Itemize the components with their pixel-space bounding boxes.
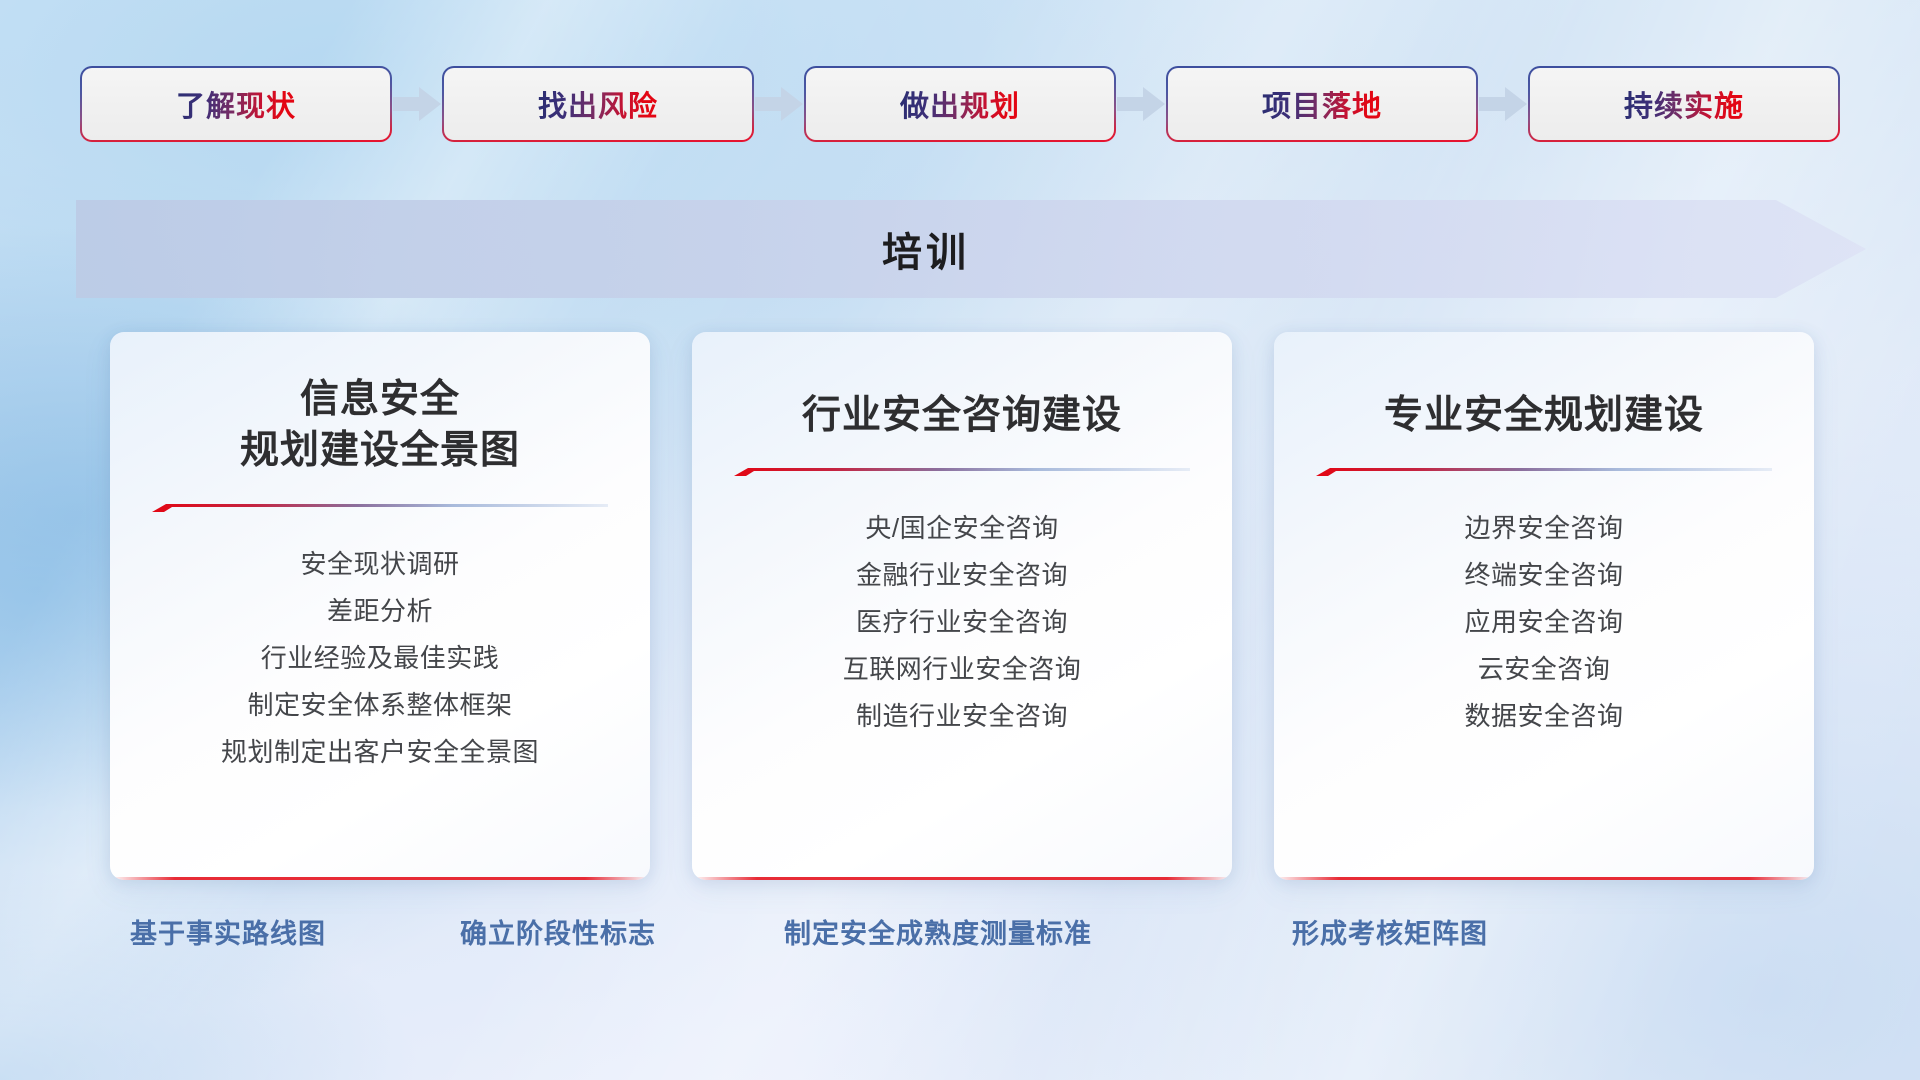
list-item: 医疗行业安全咨询 (716, 599, 1208, 646)
list-item: 行业经验及最佳实践 (134, 635, 626, 682)
bottom-label-roadmap: 基于事实路线图 (130, 912, 326, 951)
step-box-3[interactable]: 做出规划 (806, 68, 1114, 140)
card-divider (1316, 467, 1772, 477)
step-label: 了解现状 (176, 83, 296, 125)
step-box-1[interactable]: 了解现状 (82, 68, 390, 140)
list-item: 终端安全咨询 (1298, 552, 1790, 599)
list-item: 云安全咨询 (1298, 646, 1790, 693)
card-industry-security-consulting[interactable]: 行业安全咨询建设 央/国企安全咨询 金融行业安全咨询 医疗行业安全咨询 (692, 332, 1232, 880)
process-step-row: 了解现状 找出风险 做出规划 项目落地 持续实施 (0, 68, 1920, 140)
step-label: 找出风险 (538, 83, 658, 125)
card-info-security-blueprint[interactable]: 信息安全 规划建设全景图 安全现状调研 差距分析 行业经验及最佳实践 (110, 332, 650, 880)
card-title: 行业安全咨询建设 (802, 374, 1122, 441)
step-label: 项目落地 (1262, 83, 1382, 125)
bottom-label-milestone: 确立阶段性标志 (460, 912, 656, 951)
step-label: 做出规划 (900, 83, 1020, 125)
list-item: 应用安全咨询 (1298, 599, 1790, 646)
bottom-label-maturity: 制定安全成熟度测量标准 (784, 912, 1092, 951)
list-item: 数据安全咨询 (1298, 693, 1790, 740)
right-arrow-icon (390, 82, 444, 126)
step-box-2[interactable]: 找出风险 (444, 68, 752, 140)
step-label: 持续实施 (1624, 83, 1744, 125)
list-item: 互联网行业安全咨询 (716, 646, 1208, 693)
list-item: 边界安全咨询 (1298, 505, 1790, 552)
training-banner: 培训 (76, 200, 1866, 298)
bottom-label-row: 基于事实路线图 确立阶段性标志 制定安全成熟度测量标准 形成考核矩阵图 (0, 912, 1920, 956)
right-arrow-icon (752, 82, 806, 126)
card-title: 信息安全 规划建设全景图 (240, 374, 520, 477)
right-arrow-icon (1476, 82, 1530, 126)
card-item-list: 安全现状调研 差距分析 行业经验及最佳实践 制定安全体系整体框架 规划制定出客户… (134, 541, 626, 776)
card-divider (152, 503, 608, 513)
list-item: 央/国企安全咨询 (716, 505, 1208, 552)
bottom-label-matrix: 形成考核矩阵图 (1292, 912, 1488, 951)
card-title: 专业安全规划建设 (1384, 374, 1704, 441)
list-item: 差距分析 (134, 588, 626, 635)
list-item: 安全现状调研 (134, 541, 626, 588)
card-professional-security-planning[interactable]: 专业安全规划建设 边界安全咨询 终端安全咨询 应用安全咨询 云安全 (1274, 332, 1814, 880)
card-item-list: 边界安全咨询 终端安全咨询 应用安全咨询 云安全咨询 数据安全咨询 (1298, 505, 1790, 740)
step-box-4[interactable]: 项目落地 (1168, 68, 1476, 140)
list-item: 制造行业安全咨询 (716, 693, 1208, 740)
list-item: 规划制定出客户安全全景图 (134, 729, 626, 776)
list-item: 制定安全体系整体框架 (134, 682, 626, 729)
card-item-list: 央/国企安全咨询 金融行业安全咨询 医疗行业安全咨询 互联网行业安全咨询 制造行… (716, 505, 1208, 740)
list-item: 金融行业安全咨询 (716, 552, 1208, 599)
step-box-5[interactable]: 持续实施 (1530, 68, 1838, 140)
card-divider (734, 467, 1190, 477)
right-arrow-icon (1114, 82, 1168, 126)
card-row: 信息安全 规划建设全景图 安全现状调研 差距分析 行业经验及最佳实践 (0, 332, 1920, 892)
banner-title: 培训 (76, 200, 1776, 298)
